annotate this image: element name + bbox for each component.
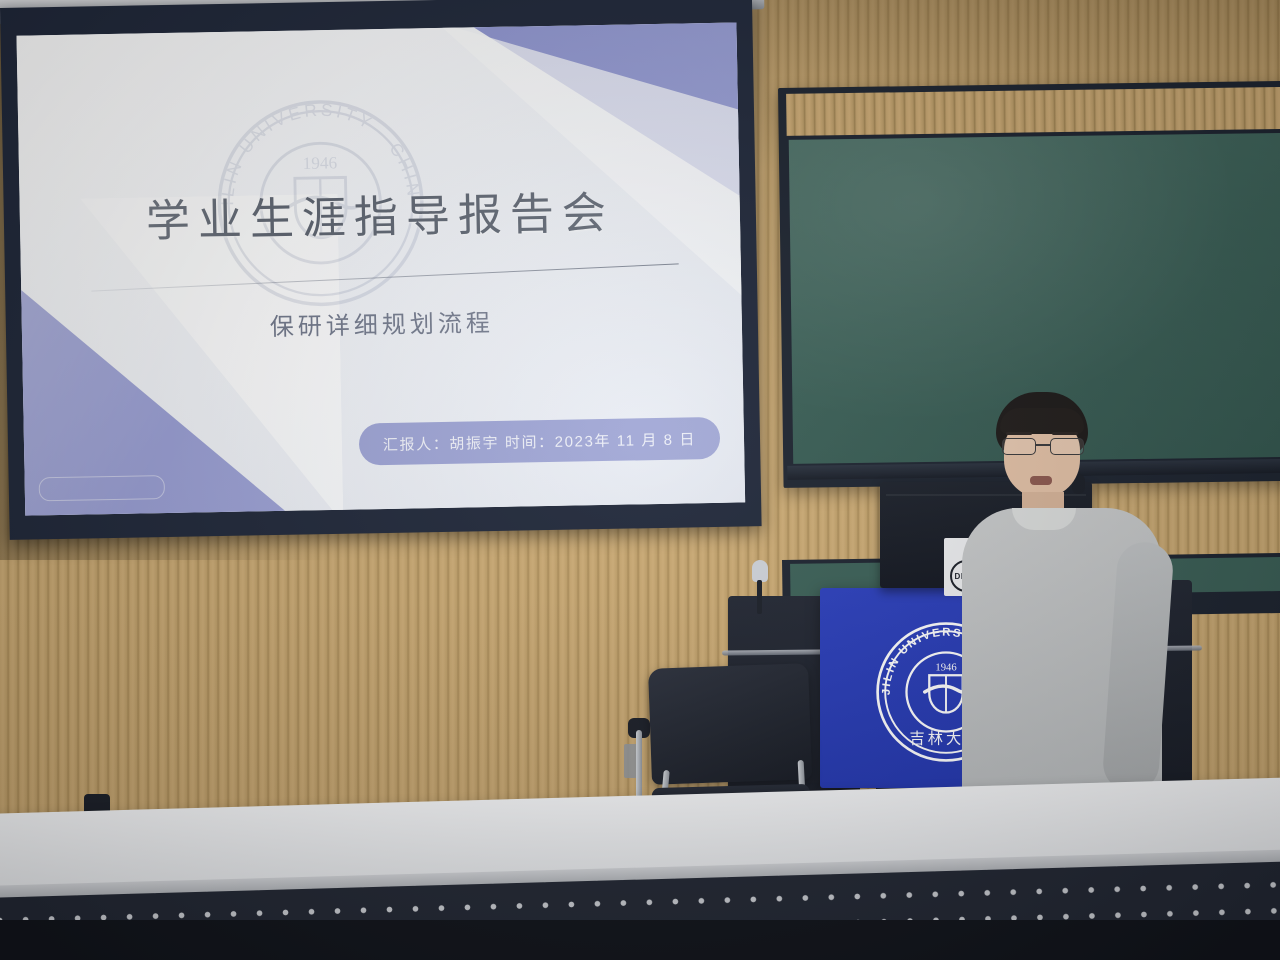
chair-backrest[interactable] xyxy=(648,663,812,785)
slide-footer-pill: 汇报人：胡振宇 时间：2023年 11 月 8 日 xyxy=(359,417,721,466)
microphone-left-head-icon xyxy=(752,560,768,582)
lecture-hall-photo: JILIN UNIVERSITY · CHINA 1946 学业生涯指导报告会 … xyxy=(0,0,1280,960)
projection-screen-frame: JILIN UNIVERSITY · CHINA 1946 学业生涯指导报告会 … xyxy=(0,0,762,540)
svg-text:1946: 1946 xyxy=(935,663,956,674)
speaker-fringe xyxy=(1000,408,1084,434)
microphone-left-stem xyxy=(757,580,762,614)
slide-corner-tag xyxy=(39,475,165,501)
slide-footer-text: 汇报人：胡振宇 时间：2023年 11 月 8 日 xyxy=(383,428,696,455)
speaker-mouth xyxy=(1030,476,1052,485)
blackboard-top-wood-strip xyxy=(786,87,1280,136)
chair-support-arm xyxy=(636,730,642,800)
projection-screen-surface: JILIN UNIVERSITY · CHINA 1946 学业生涯指导报告会 … xyxy=(17,23,746,516)
presentation-slide: JILIN UNIVERSITY · CHINA 1946 学业生涯指导报告会 … xyxy=(17,23,746,516)
slide-title: 学业生涯指导报告会 xyxy=(19,174,740,251)
eyeglasses-icon xyxy=(1000,438,1086,454)
floor-strip xyxy=(0,920,1280,960)
glasses-bridge xyxy=(1036,444,1050,446)
glasses-lens-right xyxy=(1050,438,1084,455)
speaker-eyebrow-right xyxy=(1052,432,1078,435)
speaker-eyebrow-left xyxy=(1006,432,1032,435)
svg-text:1946: 1946 xyxy=(302,153,337,173)
glasses-lens-left xyxy=(1002,438,1036,455)
